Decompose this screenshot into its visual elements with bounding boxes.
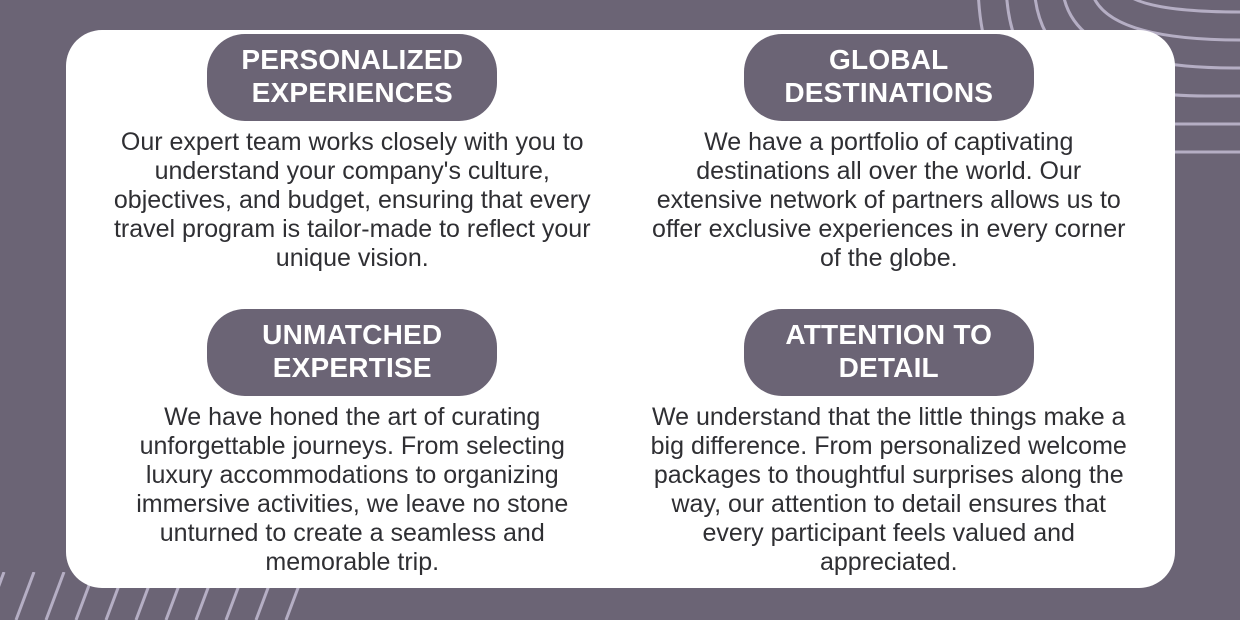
feature-card-title: UNMATCHED EXPERTISE — [207, 309, 497, 396]
feature-card-attention-to-detail: ATTENTION TO DETAIL We understand that t… — [621, 307, 1158, 580]
feature-card-body: We understand that the little things mak… — [643, 403, 1136, 577]
feature-card-personalized-experiences: PERSONALIZED EXPERIENCES Our expert team… — [84, 34, 621, 307]
feature-card-title: PERSONALIZED EXPERIENCES — [207, 34, 497, 121]
feature-card-body: We have honed the art of curating unforg… — [106, 403, 599, 577]
feature-card-unmatched-expertise: UNMATCHED EXPERTISE We have honed the ar… — [84, 307, 621, 580]
feature-panel: PERSONALIZED EXPERIENCES Our expert team… — [66, 30, 1175, 588]
feature-card-body: We have a portfolio of captivating desti… — [643, 128, 1136, 273]
feature-card-title: GLOBAL DESTINATIONS — [744, 34, 1034, 121]
feature-card-body: Our expert team works closely with you t… — [106, 128, 599, 273]
feature-card-global-destinations: GLOBAL DESTINATIONS We have a portfolio … — [621, 34, 1158, 307]
feature-card-title: ATTENTION TO DETAIL — [744, 309, 1034, 396]
infographic-page: PERSONALIZED EXPERIENCES Our expert team… — [0, 0, 1240, 620]
